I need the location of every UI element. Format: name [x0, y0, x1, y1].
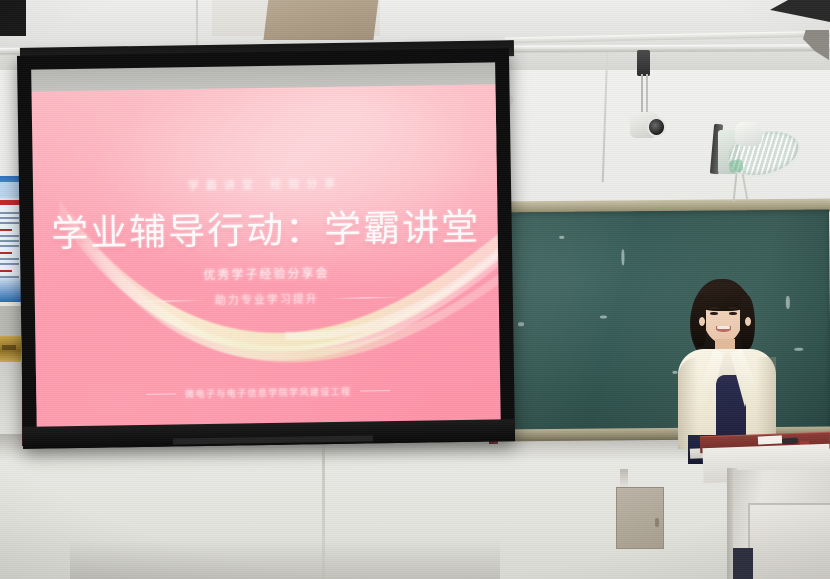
access-hatch-knob: [655, 518, 659, 527]
presenter-eye-right: [729, 312, 737, 315]
poster-heading-bar: [0, 200, 20, 205]
slide-footer: 微电子与电子信息学院学风建设工程: [185, 385, 352, 401]
slide-rule-right: [329, 296, 401, 298]
chalk-mark: [518, 322, 524, 326]
presenter-brow-left: [709, 307, 719, 309]
chalk-mark: [794, 348, 803, 351]
presenter-brow-right: [728, 307, 738, 309]
ceiling-wood-panel: [263, 0, 378, 40]
chalk-mark: [559, 236, 564, 239]
gold-plaque: [0, 336, 21, 362]
wall-notice-board: [0, 306, 22, 336]
lectern-shelf-slot: [733, 548, 753, 579]
lectern-papers: [758, 435, 782, 444]
slide-ribbon-graphic: [32, 84, 501, 429]
lectern-panel: [748, 503, 830, 579]
presenter-eye-left: [710, 312, 718, 315]
chalk-mark: [600, 315, 607, 318]
camera-bracket: [637, 50, 650, 76]
presenter-ear-left: [699, 317, 705, 326]
projector-screen[interactable]: 学霸讲堂 经验分享 学业辅导行动：学霸讲堂 优秀学子经验分享会 助力专业学习提升…: [17, 48, 515, 449]
slide-subtitle-secondary: 助力专业学习提升: [215, 290, 319, 308]
camera-arm: [641, 74, 643, 116]
slide-footer-rule-right: [360, 390, 390, 391]
classroom-photo: 学霸讲堂 经验分享 学业辅导行动：学霸讲堂 优秀学子经验分享会 助力专业学习提升…: [0, 0, 830, 579]
wall-lower-notice: [0, 362, 22, 434]
slide-footer-rule-left: [146, 393, 176, 394]
slide-title: 学业辅导行动：学霸讲堂: [33, 196, 498, 257]
presenter-ear-right: [745, 317, 751, 326]
camera-lens-icon: [647, 117, 666, 137]
fan-motor-housing: [735, 122, 762, 146]
camera-arm-secondary: [646, 74, 648, 114]
presenter-teeth: [717, 326, 730, 329]
wall-grime: [70, 540, 500, 579]
lectern-object: [782, 437, 798, 444]
ceiling-dark-corner-left: [0, 0, 26, 36]
fan-control-box: [728, 159, 744, 173]
presentation-slide: 学霸讲堂 经验分享 学业辅导行动：学霸讲堂 优秀学子经验分享会 助力专业学习提升…: [32, 84, 501, 429]
wall-stain: [620, 469, 628, 489]
slide-rule-left: [133, 299, 205, 301]
chalk-mark: [621, 249, 624, 265]
